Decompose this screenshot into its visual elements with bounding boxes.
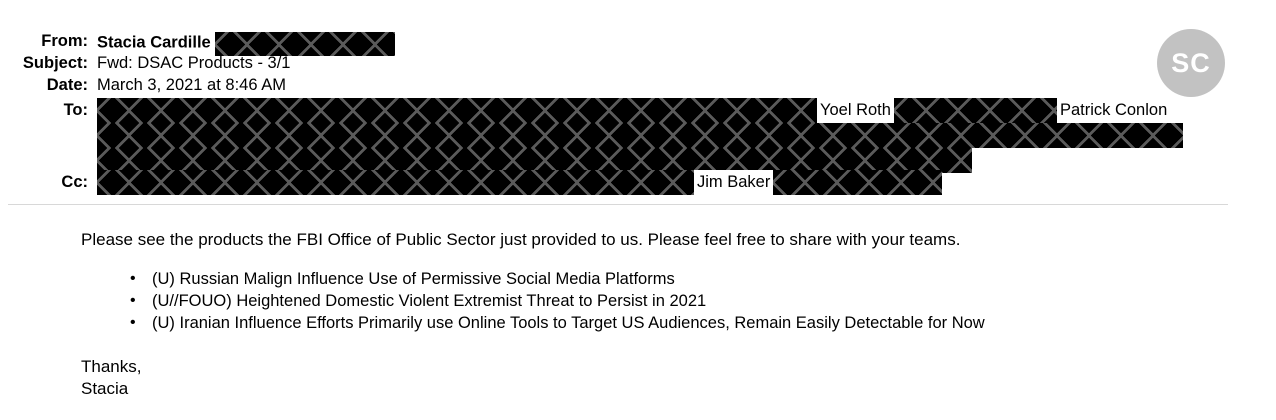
cc-label: Cc: (0, 172, 88, 192)
product-list: (U) Russian Malign Influence Use of Perm… (122, 268, 985, 334)
avatar[interactable]: SC (1157, 29, 1225, 97)
from-label: From: (0, 31, 88, 51)
to-recipients-row: Yoel RothPatrick Conlon (97, 98, 1276, 123)
list-item: (U) Russian Malign Influence Use of Perm… (152, 268, 985, 290)
email-header: From: Stacia Cardille Subject: Fwd: DSAC… (0, 0, 1276, 204)
signature-closing: Thanks, (81, 356, 141, 378)
avatar-initials: SC (1171, 48, 1211, 79)
subject-label: Subject: (0, 53, 88, 73)
subject-value: Fwd: DSAC Products - 3/1 (97, 53, 290, 73)
redacted-recipient (97, 98, 817, 123)
date-label: Date: (0, 75, 88, 95)
date-value: March 3, 2021 at 8:46 AM (97, 75, 286, 95)
redacted-recipient (97, 170, 694, 195)
signature-name: Stacia (81, 378, 141, 400)
recipient-name-jim-baker[interactable]: Jim Baker (694, 170, 773, 195)
redacted-recipient (773, 170, 942, 195)
redacted-recipient (97, 123, 1183, 148)
recipient-name-patrick-conlon[interactable]: Patrick Conlon (1057, 98, 1170, 123)
to-label: To: (0, 100, 88, 120)
list-item: (U//FOUO) Heightened Domestic Violent Ex… (152, 290, 985, 312)
to-recipients-row (97, 123, 1183, 148)
sender-name[interactable]: Stacia Cardille (97, 33, 211, 51)
signature-block: Thanks, Stacia (81, 356, 141, 400)
cc-recipients-row: Jim Baker (97, 170, 960, 195)
redacted-recipient (894, 98, 1057, 123)
from-value: Stacia Cardille (97, 31, 395, 55)
intro-paragraph: Please see the products the FBI Office o… (81, 229, 960, 251)
recipient-name-yoel-roth[interactable]: Yoel Roth (817, 98, 894, 123)
list-item: (U) Iranian Influence Efforts Primarily … (152, 312, 985, 334)
header-body-divider (8, 204, 1228, 205)
